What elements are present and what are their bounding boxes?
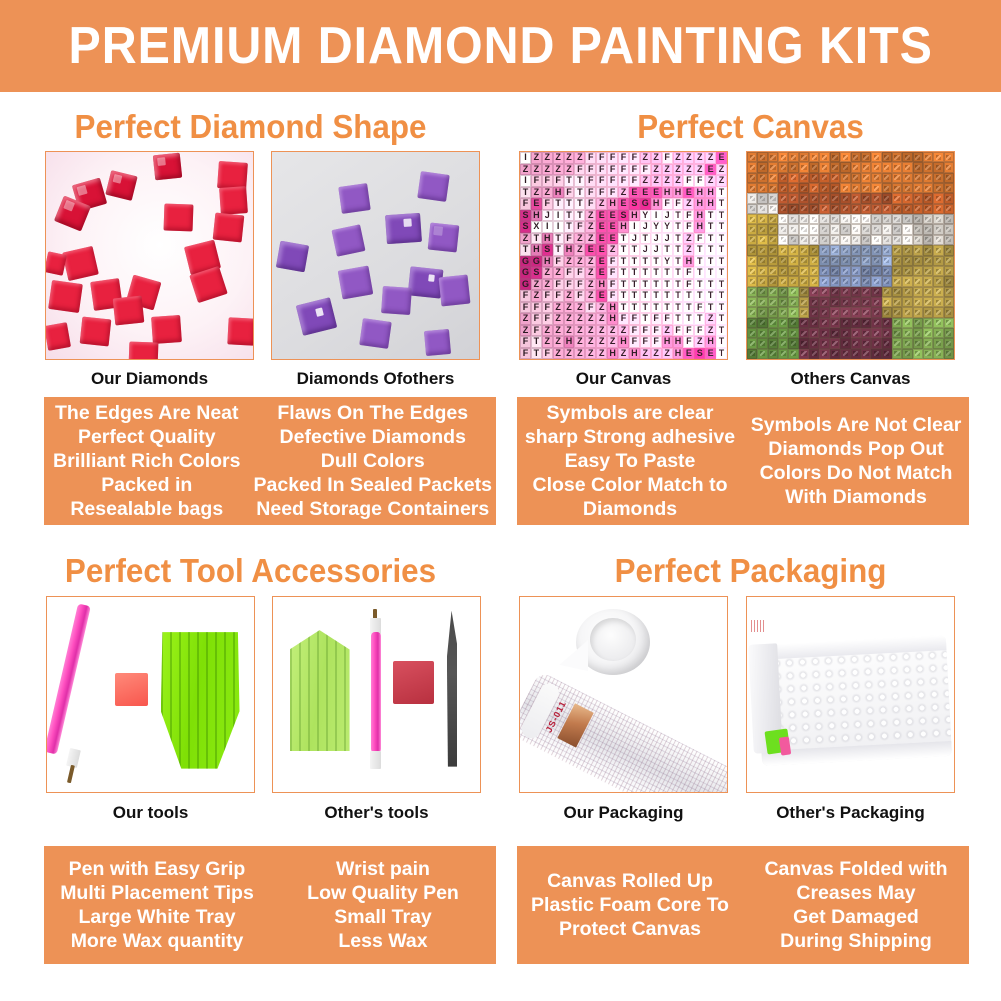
others-canvas-pixel — [933, 338, 943, 348]
others-canvas-pixel — [768, 214, 778, 224]
canvas-symbol-cell: F — [564, 267, 575, 279]
canvas-symbol-cell: F — [607, 256, 618, 268]
canvas-symbol-cell: J — [542, 210, 553, 222]
others-canvas-pixel — [778, 245, 788, 255]
canvas-symbol-cell: Z — [651, 164, 662, 176]
canvas-symbol-cell: Z — [694, 164, 705, 176]
canvas-symbol-cell: T — [716, 233, 727, 245]
canvas-symbol-cell: T — [705, 290, 716, 302]
canvas-symbol-cell: Z — [574, 336, 585, 348]
canvas-symbol-cell: F — [574, 279, 585, 291]
photo-our-tools — [46, 596, 255, 793]
canvas-symbol-cell: F — [553, 256, 564, 268]
canvas-symbol-cell: Z — [607, 244, 618, 256]
others-canvas-pixel — [809, 152, 819, 162]
others-canvas-pixel — [902, 214, 912, 224]
others-canvas-pixel — [768, 183, 778, 193]
canvas-symbol-cell: H — [651, 198, 662, 210]
others-canvas-pixel — [778, 276, 788, 286]
canvas-symbol-cell: H — [607, 313, 618, 325]
others-canvas-pixel — [757, 204, 767, 214]
our-diamonds-image — [46, 152, 253, 359]
canvas-symbol-cell: F — [585, 302, 596, 314]
canvas-symbol-cell: F — [694, 175, 705, 187]
others-canvas-pixel — [913, 204, 923, 214]
others-canvas-pixel — [840, 328, 850, 338]
comparison-column-ours: Pen with Easy Grip Multi Placement Tips … — [44, 846, 270, 964]
others-canvas-pixel — [944, 162, 954, 172]
others-canvas-pixel — [944, 235, 954, 245]
canvas-symbol-cell: F — [651, 336, 662, 348]
others-canvas-pixel — [902, 193, 912, 203]
canvas-symbol-cell: T — [574, 210, 585, 222]
others-canvas-pixel — [882, 276, 892, 286]
comparison-line: Brilliant Rich Colors — [53, 449, 240, 473]
canvas-symbol-cell: T — [640, 233, 651, 245]
canvas-symbol-cell: Z — [662, 348, 673, 360]
canvas-symbol-cell: H — [662, 187, 673, 199]
others-canvas-pixel — [861, 297, 871, 307]
others-canvas-pixel — [923, 224, 933, 234]
canvas-symbol-cell: T — [640, 267, 651, 279]
others-canvas-pixel — [778, 338, 788, 348]
others-canvas-pixel — [768, 328, 778, 338]
canvas-symbol-cell: T — [694, 279, 705, 291]
canvas-symbol-cell: I — [542, 221, 553, 233]
canvas-symbol-cell: Z — [596, 336, 607, 348]
others-canvas-pixel — [882, 183, 892, 193]
comparison-box-packaging: Canvas Rolled Up Plastic Foam Core To Pr… — [517, 846, 969, 964]
others-canvas-pixel — [830, 276, 840, 286]
comparison-line: The Edges Are Neat — [55, 401, 239, 425]
others-canvas-pixel — [892, 224, 902, 234]
canvas-symbol-cell: Z — [574, 302, 585, 314]
others-canvas-pixel — [809, 173, 819, 183]
canvas-symbol-cell: T — [705, 221, 716, 233]
others-canvas-pixel — [830, 318, 840, 328]
others-canvas-pixel — [778, 307, 788, 317]
others-canvas-pixel — [799, 307, 809, 317]
others-canvas-pixel — [768, 338, 778, 348]
others-canvas-pixel — [819, 297, 829, 307]
comparison-line: Canvas Folded with — [764, 857, 947, 881]
canvas-symbol-cell: F — [531, 313, 542, 325]
canvas-symbol-cell: F — [585, 198, 596, 210]
others-canvas-pixel — [809, 256, 819, 266]
canvas-symbol-cell: T — [705, 279, 716, 291]
canvas-symbol-cell: F — [640, 164, 651, 176]
others-canvas-pixel — [799, 318, 809, 328]
canvas-symbol-cell: Z — [531, 279, 542, 291]
canvas-symbol-cell: Z — [553, 152, 564, 164]
caption-our-diamonds: Our Diamonds — [45, 370, 254, 387]
canvas-symbol-cell: E — [531, 198, 542, 210]
canvas-symbol-cell: T — [564, 221, 575, 233]
canvas-symbol-cell: F — [607, 175, 618, 187]
canvas-symbol-cell: Z — [564, 302, 575, 314]
others-canvas-pixel — [944, 328, 954, 338]
others-canvas-pixel — [757, 349, 767, 359]
canvas-symbol-cell: E — [585, 244, 596, 256]
comparison-column-others: Wrist pain Low Quality Pen Small Tray Le… — [270, 846, 496, 964]
others-canvas-pixel — [799, 349, 809, 359]
others-canvas-pixel — [923, 204, 933, 214]
comparison-line: Flaws On The Edges — [277, 401, 468, 425]
others-canvas-pixel — [819, 338, 829, 348]
canvas-symbol-cell: F — [629, 325, 640, 337]
canvas-symbol-cell: T — [716, 256, 727, 268]
canvas-symbol-cell: E — [629, 187, 640, 199]
canvas-symbol-cell: T — [618, 290, 629, 302]
others-canvas-pixel — [871, 204, 881, 214]
canvas-symbol-cell: G — [531, 256, 542, 268]
others-canvas-pixel — [892, 214, 902, 224]
others-canvas-pixel — [913, 256, 923, 266]
others-canvas-pixel — [913, 162, 923, 172]
canvas-symbol-cell: J — [651, 244, 662, 256]
others-canvas-pixel — [892, 173, 902, 183]
others-canvas-pixel — [788, 173, 798, 183]
canvas-symbol-cell: Z — [520, 233, 531, 245]
canvas-symbol-cell: F — [585, 187, 596, 199]
others-canvas-pixel — [747, 235, 757, 245]
others-canvas-pixel — [861, 276, 871, 286]
canvas-symbol-cell: F — [531, 325, 542, 337]
canvas-symbol-cell: I — [651, 210, 662, 222]
canvas-symbol-cell: E — [596, 290, 607, 302]
others-canvas-pixel — [747, 266, 757, 276]
canvas-symbol-cell: Z — [542, 152, 553, 164]
others-canvas-pixel — [768, 349, 778, 359]
canvas-symbol-cell: G — [520, 256, 531, 268]
others-canvas-pixel — [933, 224, 943, 234]
others-canvas-pixel — [933, 245, 943, 255]
others-canvas-pixel — [851, 287, 861, 297]
canvas-symbol-cell: T — [640, 290, 651, 302]
others-canvas-pixel — [861, 162, 871, 172]
canvas-symbol-cell: Z — [640, 175, 651, 187]
others-canvas-pixel — [944, 318, 954, 328]
comparison-line: Protect Canvas — [559, 917, 701, 941]
others-canvas-pixel — [882, 193, 892, 203]
comparison-column-others: Canvas Folded with Creases May Get Damag… — [743, 846, 969, 964]
others-canvas-pixel — [809, 183, 819, 193]
caption-our-tools: Our tools — [46, 804, 255, 821]
others-canvas-pixel — [830, 245, 840, 255]
others-canvas-pixel — [851, 193, 861, 203]
others-tools-image — [273, 597, 480, 792]
others-canvas-pixel — [923, 235, 933, 245]
canvas-symbol-cell: T — [694, 313, 705, 325]
others-canvas-pixel — [892, 162, 902, 172]
canvas-symbol-cell: H — [531, 244, 542, 256]
others-canvas-pixel — [830, 224, 840, 234]
canvas-symbol-cell: E — [683, 187, 694, 199]
canvas-symbol-cell: F — [596, 187, 607, 199]
others-canvas-pixel — [851, 204, 861, 214]
others-canvas-pixel — [933, 349, 943, 359]
canvas-symbol-cell: S — [542, 244, 553, 256]
canvas-symbol-cell: H — [553, 187, 564, 199]
canvas-symbol-cell: T — [683, 313, 694, 325]
others-canvas-pixel — [768, 318, 778, 328]
section-heading-tools: Perfect Tool Accessories — [13, 554, 489, 587]
others-canvas-pixel — [923, 193, 933, 203]
others-canvas-pixel — [819, 276, 829, 286]
canvas-symbol-cell: E — [705, 348, 716, 360]
canvas-symbol-cell: F — [520, 336, 531, 348]
others-canvas-pixel — [757, 266, 767, 276]
canvas-symbol-cell: T — [618, 233, 629, 245]
comparison-line: Diamonds — [583, 497, 677, 521]
others-canvas-pixel — [830, 256, 840, 266]
others-canvas-pixel — [788, 224, 798, 234]
canvas-symbol-cell: F — [618, 152, 629, 164]
others-canvas-pixel — [892, 349, 902, 359]
others-canvas-pixel — [871, 173, 881, 183]
canvas-symbol-cell: T — [520, 244, 531, 256]
canvas-symbol-cell: T — [673, 313, 684, 325]
canvas-symbol-cell: F — [618, 313, 629, 325]
others-canvas-pixel — [747, 338, 757, 348]
canvas-symbol-cell: Z — [694, 336, 705, 348]
canvas-symbol-cell: T — [564, 175, 575, 187]
others-canvas-pixel — [799, 297, 809, 307]
canvas-symbol-cell: T — [662, 279, 673, 291]
canvas-symbol-cell: F — [542, 302, 553, 314]
others-canvas-pixel — [840, 224, 850, 234]
others-canvas-pixel — [902, 287, 912, 297]
others-canvas-pixel — [830, 235, 840, 245]
others-canvas-pixel — [882, 152, 892, 162]
others-canvas-pixel — [799, 338, 809, 348]
others-canvas-pixel — [768, 245, 778, 255]
others-canvas-pixel — [892, 183, 902, 193]
others-canvas-pixel — [892, 266, 902, 276]
canvas-symbol-cell: Y — [662, 221, 673, 233]
others-canvas-pixel — [902, 204, 912, 214]
others-canvas-pixel — [799, 183, 809, 193]
canvas-symbol-cell: Y — [662, 256, 673, 268]
others-canvas-pixel — [913, 328, 923, 338]
canvas-symbol-cell: E — [596, 267, 607, 279]
others-canvas-pixel — [778, 224, 788, 234]
canvas-symbol-cell: F — [618, 175, 629, 187]
others-canvas-pixel — [747, 297, 757, 307]
canvas-symbol-cell: F — [629, 336, 640, 348]
canvas-symbol-cell: E — [607, 221, 618, 233]
canvas-symbol-cell: G — [640, 198, 651, 210]
canvas-symbol-cell: F — [683, 267, 694, 279]
canvas-symbol-cell: Z — [705, 325, 716, 337]
others-canvas-pixel — [819, 328, 829, 338]
others-canvas-pixel — [788, 256, 798, 266]
others-canvas-pixel — [871, 266, 881, 276]
canvas-symbol-cell: Z — [585, 290, 596, 302]
canvas-symbol-cell: F — [640, 325, 651, 337]
our-tools-image — [47, 597, 254, 792]
canvas-symbol-cell: T — [716, 244, 727, 256]
others-canvas-image — [747, 152, 954, 359]
canvas-symbol-cell: Z — [574, 256, 585, 268]
canvas-symbol-cell: F — [673, 198, 684, 210]
others-canvas-pixel — [902, 152, 912, 162]
others-canvas-pixel — [778, 183, 788, 193]
comparison-line: Small Tray — [334, 905, 432, 929]
others-canvas-pixel — [819, 193, 829, 203]
others-canvas-pixel — [933, 297, 943, 307]
canvas-symbol-cell: Z — [705, 152, 716, 164]
others-canvas-pixel — [840, 266, 850, 276]
others-canvas-pixel — [788, 318, 798, 328]
canvas-symbol-cell: J — [640, 221, 651, 233]
canvas-symbol-cell: Z — [651, 152, 662, 164]
canvas-symbol-cell: F — [683, 221, 694, 233]
others-canvas-pixel — [913, 224, 923, 234]
others-canvas-pixel — [819, 183, 829, 193]
others-canvas-pixel — [923, 328, 933, 338]
photo-others-diamonds — [271, 151, 480, 360]
canvas-symbol-cell: Z — [683, 233, 694, 245]
page-title: PREMIUM DIAMOND PAINTING KITS — [68, 20, 932, 72]
canvas-symbol-cell: F — [585, 164, 596, 176]
others-canvas-pixel — [788, 338, 798, 348]
canvas-symbol-cell: Z — [585, 233, 596, 245]
canvas-symbol-cell: T — [520, 187, 531, 199]
others-canvas-pixel — [944, 204, 954, 214]
canvas-symbol-cell: F — [520, 290, 531, 302]
comparison-line: Colors Do Not Match — [760, 461, 953, 485]
others-canvas-pixel — [944, 276, 954, 286]
canvas-symbol-cell: Z — [585, 279, 596, 291]
canvas-symbol-cell: Z — [596, 198, 607, 210]
canvas-symbol-cell: Z — [716, 175, 727, 187]
others-canvas-pixel — [809, 297, 819, 307]
canvas-symbol-cell: Z — [542, 187, 553, 199]
canvas-symbol-cell: E — [705, 164, 716, 176]
comparison-line: Resealable bags — [70, 497, 223, 521]
others-canvas-pixel — [944, 349, 954, 359]
canvas-symbol-cell: T — [662, 267, 673, 279]
others-canvas-pixel — [747, 193, 757, 203]
canvas-symbol-cell: F — [542, 348, 553, 360]
canvas-symbol-cell: F — [683, 279, 694, 291]
canvas-symbol-cell: T — [716, 290, 727, 302]
others-canvas-pixel — [809, 276, 819, 286]
others-canvas-pixel — [923, 276, 933, 286]
canvas-symbol-cell: Z — [662, 175, 673, 187]
comparison-column-others: Flaws On The Edges Defective Diamonds Du… — [250, 397, 496, 525]
others-canvas-pixel — [913, 235, 923, 245]
comparison-line: Low Quality Pen — [307, 881, 459, 905]
canvas-symbol-cell: Z — [651, 348, 662, 360]
others-canvas-pixel — [778, 173, 788, 183]
canvas-symbol-cell: Z — [673, 152, 684, 164]
others-canvas-pixel — [747, 183, 757, 193]
others-canvas-pixel — [819, 256, 829, 266]
canvas-symbol-cell: H — [683, 256, 694, 268]
others-canvas-pixel — [809, 245, 819, 255]
canvas-symbol-cell: T — [683, 302, 694, 314]
others-canvas-pixel — [747, 318, 757, 328]
others-canvas-pixel — [902, 328, 912, 338]
others-canvas-pixel — [944, 338, 954, 348]
others-canvas-pixel — [923, 245, 933, 255]
others-canvas-pixel — [809, 287, 819, 297]
others-canvas-pixel — [757, 214, 767, 224]
others-canvas-pixel — [799, 266, 809, 276]
others-canvas-pixel — [892, 245, 902, 255]
canvas-symbol-cell: Z — [640, 348, 651, 360]
others-canvas-pixel — [809, 338, 819, 348]
canvas-symbol-cell: T — [553, 244, 564, 256]
canvas-symbol-cell: T — [651, 302, 662, 314]
others-canvas-pixel — [871, 297, 881, 307]
others-canvas-pixel — [861, 204, 871, 214]
canvas-symbol-cell: T — [640, 302, 651, 314]
others-canvas-pixel — [913, 349, 923, 359]
others-canvas-pixel — [913, 287, 923, 297]
others-canvas-pixel — [902, 297, 912, 307]
canvas-symbol-cell: E — [607, 233, 618, 245]
others-canvas-pixel — [778, 152, 788, 162]
canvas-symbol-cell: Z — [596, 348, 607, 360]
our-packaging-image: JS-011 — [520, 597, 727, 792]
canvas-symbol-cell: T — [640, 313, 651, 325]
comparison-line: Defective Diamonds — [280, 425, 466, 449]
canvas-symbol-cell: J — [651, 233, 662, 245]
others-canvas-pixel — [819, 235, 829, 245]
comparison-line: Plastic Foam Core To — [531, 893, 729, 917]
canvas-symbol-cell: T — [716, 187, 727, 199]
canvas-symbol-cell: T — [553, 198, 564, 210]
others-canvas-pixel — [819, 214, 829, 224]
comparison-line: Multi Placement Tips — [60, 881, 254, 905]
canvas-symbol-cell: Z — [585, 221, 596, 233]
canvas-symbol-cell: Z — [683, 152, 694, 164]
others-canvas-pixel — [840, 256, 850, 266]
others-canvas-pixel — [768, 266, 778, 276]
canvas-symbol-cell: Z — [553, 302, 564, 314]
others-canvas-pixel — [871, 224, 881, 234]
others-canvas-pixel — [840, 297, 850, 307]
others-canvas-pixel — [851, 256, 861, 266]
canvas-symbol-cell: T — [716, 279, 727, 291]
canvas-symbol-cell: E — [716, 152, 727, 164]
others-canvas-pixel — [871, 338, 881, 348]
canvas-symbol-cell: E — [683, 348, 694, 360]
others-canvas-pixel — [851, 235, 861, 245]
others-canvas-pixel — [902, 318, 912, 328]
canvas-symbol-cell: S — [520, 221, 531, 233]
canvas-symbol-cell: T — [629, 302, 640, 314]
canvas-symbol-cell: H — [542, 256, 553, 268]
others-canvas-pixel — [851, 276, 861, 286]
canvas-symbol-cell: X — [531, 221, 542, 233]
canvas-symbol-cell: T — [640, 279, 651, 291]
canvas-symbol-cell: T — [618, 256, 629, 268]
photo-others-packaging — [746, 596, 955, 793]
others-canvas-pixel — [768, 152, 778, 162]
canvas-symbol-cell: T — [629, 290, 640, 302]
others-canvas-pixel — [913, 183, 923, 193]
comparison-line: During Shipping — [780, 929, 932, 953]
others-canvas-pixel — [861, 214, 871, 224]
canvas-symbol-cell: T — [629, 267, 640, 279]
canvas-symbol-cell: Z — [542, 279, 553, 291]
canvas-symbol-cell: Z — [585, 256, 596, 268]
others-canvas-pixel — [882, 349, 892, 359]
